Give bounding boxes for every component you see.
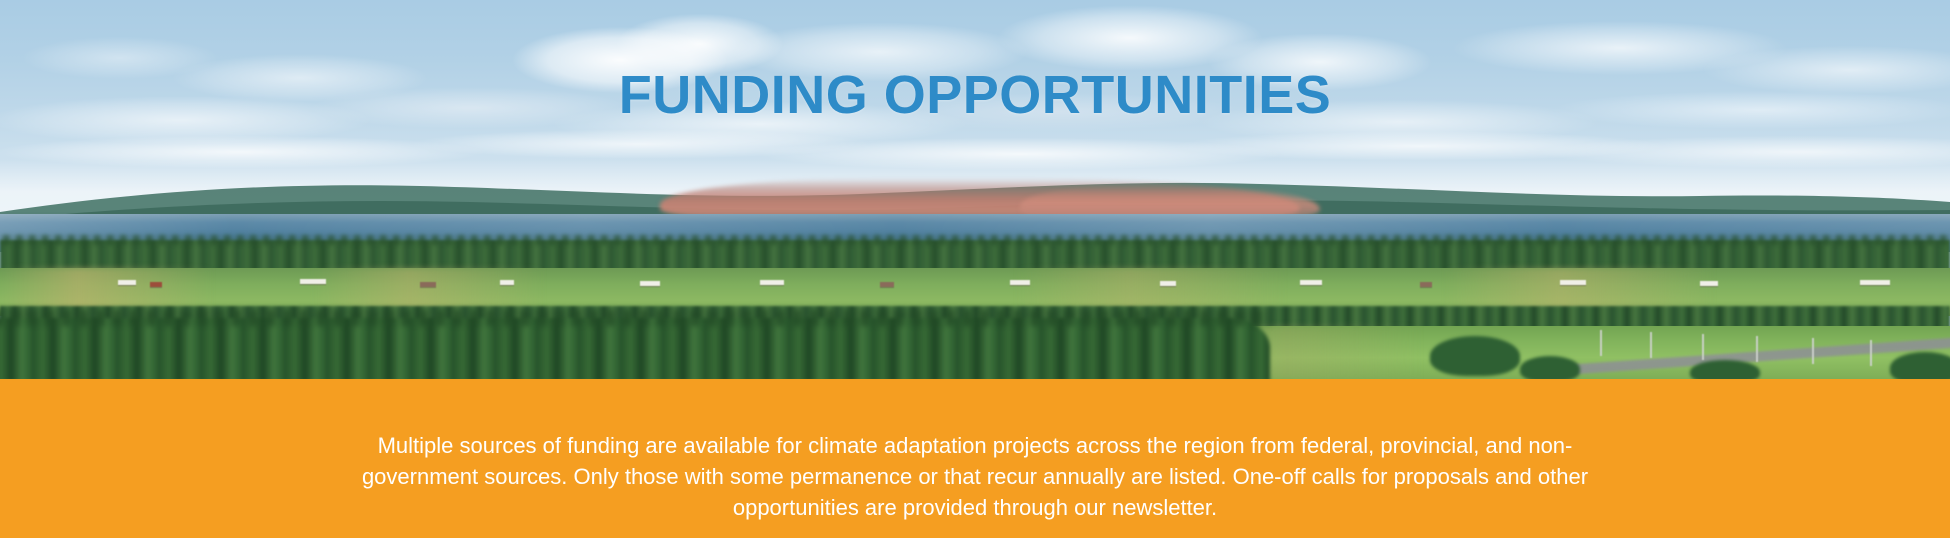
farm-building bbox=[1420, 282, 1432, 287]
farm-building bbox=[1700, 281, 1718, 286]
utility-pole bbox=[1702, 334, 1704, 360]
farm-building bbox=[640, 281, 660, 286]
intro-paragraph: Multiple sources of funding are availabl… bbox=[320, 430, 1630, 523]
utility-pole bbox=[1756, 336, 1758, 362]
utility-pole bbox=[1812, 338, 1814, 364]
farm-building bbox=[1160, 281, 1176, 286]
foreground-tree-row bbox=[0, 318, 1270, 379]
farm-building bbox=[1300, 280, 1322, 285]
foreground-bush bbox=[1430, 336, 1520, 376]
intro-banner: Multiple sources of funding are availabl… bbox=[0, 379, 1950, 538]
farm-building bbox=[1560, 280, 1586, 285]
foreground-bush bbox=[1690, 360, 1760, 379]
foreground-bush bbox=[1890, 352, 1950, 379]
farm-buildings-group bbox=[0, 276, 1950, 298]
farm-building bbox=[760, 280, 784, 285]
utility-pole bbox=[1870, 340, 1872, 366]
farm-building bbox=[1860, 280, 1890, 285]
farm-building bbox=[1010, 280, 1030, 285]
farm-building bbox=[500, 280, 514, 285]
farm-building bbox=[420, 282, 436, 287]
farm-building bbox=[118, 280, 136, 285]
page-title: FUNDING OPPORTUNITIES bbox=[0, 64, 1950, 126]
utility-pole bbox=[1650, 332, 1652, 358]
farm-building bbox=[300, 279, 326, 284]
foreground-bush bbox=[1520, 356, 1580, 379]
hero-banner: FUNDING OPPORTUNITIES bbox=[0, 0, 1950, 379]
funding-opportunities-page: FUNDING OPPORTUNITIES Multiple sources o… bbox=[0, 0, 1950, 538]
farm-building bbox=[880, 282, 894, 287]
farm-building bbox=[150, 282, 162, 287]
utility-pole bbox=[1600, 330, 1602, 356]
